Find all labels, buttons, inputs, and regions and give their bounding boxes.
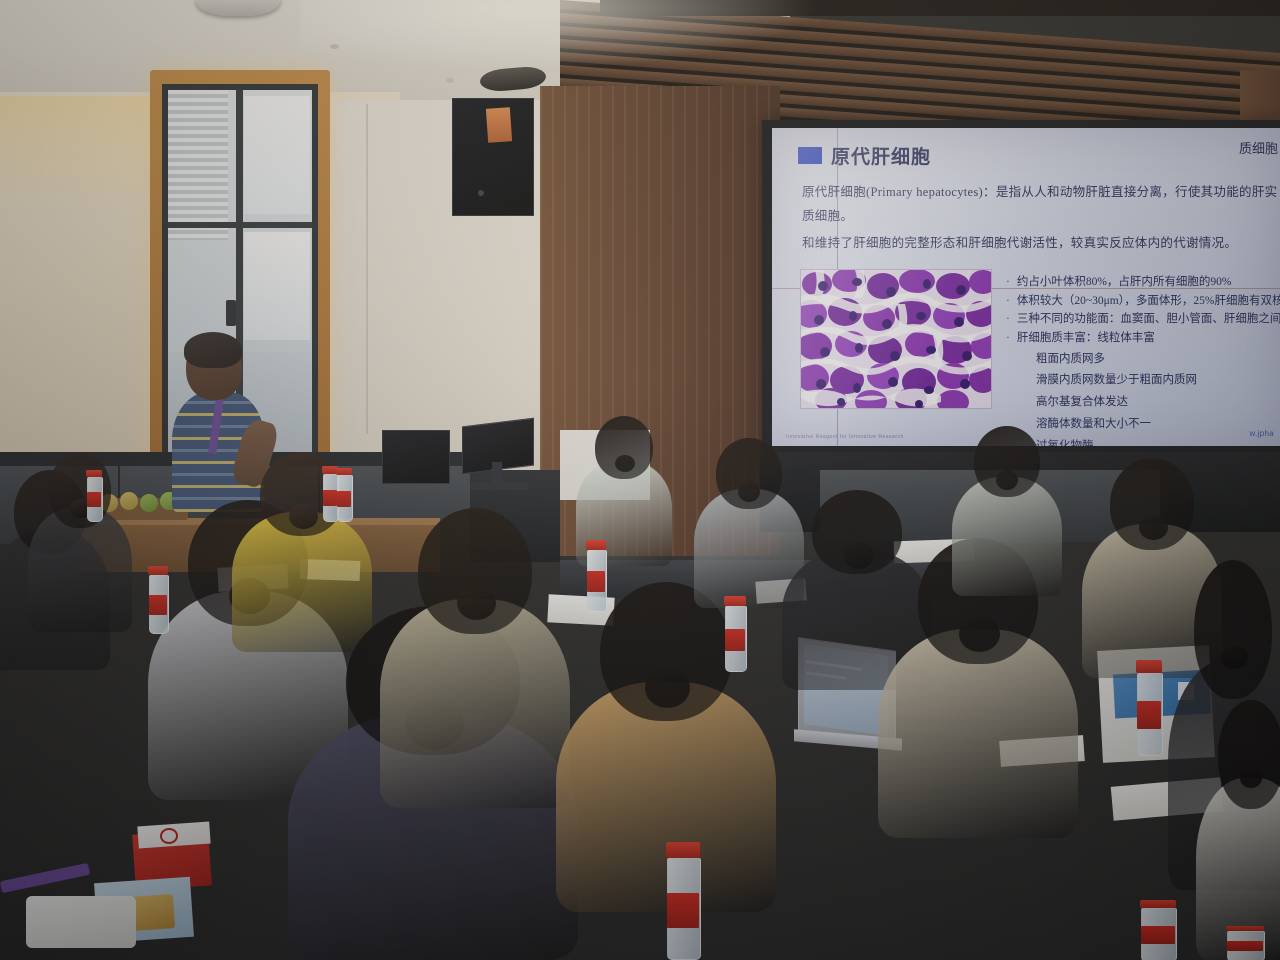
bullet-dot-icon: ·	[1006, 273, 1010, 292]
slide-body: ·约占小叶体积80%，占肝内所有细胞的90% ·体积较大（20~30μm），多面…	[784, 269, 1280, 446]
bullet-dot-icon: ·	[1006, 310, 1010, 329]
recessed-light-icon	[330, 44, 339, 49]
sub-item: 粗面内质网多	[1036, 350, 1280, 370]
bottle-cap-icon	[724, 596, 746, 606]
window-pane-bright-lower	[244, 232, 310, 340]
projection-screen: 原代肝细胞 原代肝细胞(Primary hepatocytes)：是指从人和动物…	[772, 128, 1280, 446]
bottle-cap-icon	[1140, 900, 1176, 908]
water-bottle	[666, 842, 700, 958]
monitor-screen-left	[382, 430, 450, 484]
audience-head	[1194, 560, 1272, 699]
presenter-hair	[184, 332, 242, 368]
bullet-dot-icon: ·	[1006, 292, 1010, 311]
water-bottle	[86, 470, 102, 520]
bottle-label	[667, 893, 699, 928]
monitor-base	[470, 482, 528, 490]
bullet-item: ·肝细胞质丰富：线粒体丰富	[1006, 329, 1280, 348]
slide-bullet-list: ·约占小叶体积80%，占肝内所有细胞的90% ·体积较大（20~30μm），多面…	[1006, 273, 1280, 446]
audience-hair-bun	[738, 482, 760, 502]
presentation-slide: 原代肝细胞 原代肝细胞(Primary hepatocytes)：是指从人和动物…	[784, 142, 1280, 438]
slide-paragraph-line-2: 和维持了肝细胞的完整形态和肝细胞代谢活性，较真实反应体内的代谢情况。	[802, 231, 1280, 255]
ceiling-light-glow	[300, 0, 820, 70]
water-bottle	[336, 468, 352, 520]
slide-paragraph-line-1: 原代肝细胞(Primary hepatocytes)：是指从人和动物肝脏直接分离…	[802, 180, 1280, 229]
window-handle[interactable]	[226, 300, 236, 326]
liver-histology-micrograph	[800, 269, 992, 409]
audience-hair-bun	[1240, 768, 1262, 788]
water-bottle	[1226, 926, 1264, 960]
audience-hair-bun	[289, 504, 318, 529]
bottle-cap-icon	[336, 468, 352, 475]
sub-item: 滑膜内质网数量少于粗面内质网	[1036, 371, 1280, 391]
window-blind	[168, 90, 228, 240]
bottle-label	[587, 571, 605, 592]
audience-member	[952, 426, 1062, 596]
audience-head	[1218, 700, 1280, 809]
bottle-cap-icon	[86, 470, 102, 477]
window-pane-bright	[244, 96, 310, 214]
bottle-cap-icon	[148, 566, 168, 575]
bullet-item: ·三种不同的功能面：血窦面、胆小管面、肝细胞之间面	[1006, 310, 1280, 329]
orange-tag-icon	[486, 107, 512, 143]
bottle-cap-icon	[1136, 660, 1162, 673]
slide-title-row: 原代肝细胞	[798, 142, 1280, 169]
bottle-label	[149, 595, 167, 615]
bottle-label	[1137, 701, 1161, 729]
lanyard-strap	[0, 863, 90, 893]
audience-hair-bun	[996, 470, 1018, 490]
water-bottle	[586, 540, 606, 610]
bottle-label	[725, 629, 745, 651]
bottle-label	[87, 492, 101, 507]
bullet-text: 肝细胞质丰富：线粒体丰富	[1017, 329, 1155, 348]
audience-hair-bun	[959, 616, 1000, 652]
audience-hair-bun	[645, 668, 690, 708]
audience-hair-bun	[1221, 646, 1248, 669]
speaker-led-icon	[478, 190, 484, 196]
blue-square-icon	[798, 147, 822, 164]
audience-hair-bun	[615, 455, 635, 472]
bullet-dot-icon: ·	[1006, 329, 1010, 348]
bottle-label	[1227, 941, 1263, 951]
sub-item: 高尔基复合体发达	[1036, 393, 1280, 413]
slide-footer-url[interactable]: w.jpha	[1250, 429, 1274, 438]
water-bottle	[148, 566, 168, 632]
sub-item: 过氧化物酶	[1036, 437, 1280, 446]
bottle-label	[323, 490, 337, 506]
bullet-item: ·体积较大（20~30μm），多面体形，25%肝细胞有双核	[1006, 292, 1280, 311]
bottle-label	[1141, 926, 1175, 944]
wall-seam	[366, 104, 368, 434]
recessed-light-icon	[446, 78, 454, 83]
audience-member	[28, 452, 132, 632]
audience-hair-bun	[1139, 515, 1168, 540]
lecture-hall-photo: 原代肝细胞 原代肝细胞(Primary hepatocytes)：是指从人和动物…	[0, 0, 1280, 960]
slide-right-edge-text: 质细胞	[1239, 138, 1278, 157]
bullet-item: ·约占小叶体积80%，占肝内所有细胞的90%	[1006, 273, 1280, 292]
audience-member	[1196, 700, 1280, 960]
bottle-label	[337, 491, 351, 507]
bottle-cap-icon	[586, 540, 606, 550]
slide-title: 原代肝细胞	[831, 142, 931, 169]
window-mullion-horizontal	[168, 222, 312, 228]
monitor-stand	[492, 462, 502, 484]
bottle-cap-icon	[666, 842, 700, 858]
water-bottle	[724, 596, 746, 670]
white-cup	[26, 896, 136, 948]
water-bottle	[1136, 660, 1162, 754]
bullet-text: 体积较大（20~30μm），多面体形，25%肝细胞有双核	[1017, 292, 1280, 311]
water-bottle	[1140, 900, 1176, 960]
bullet-text: 约占小叶体积80%，占肝内所有细胞的90%	[1017, 273, 1232, 292]
audience-member	[380, 508, 570, 808]
audience-hair-bun	[457, 586, 496, 620]
bullet-text: 三种不同的功能面：血窦面、胆小管面、肝细胞之间面	[1017, 310, 1280, 329]
audience-hair-bun	[843, 542, 874, 569]
sub-item: 溶酶体数量和大小不一	[1036, 415, 1280, 435]
